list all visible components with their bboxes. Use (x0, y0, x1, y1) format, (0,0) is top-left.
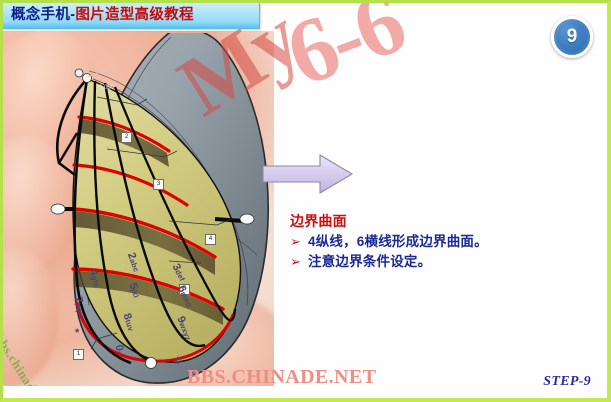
curve-tag-5[interactable]: 5 (179, 284, 190, 295)
callout-bullet-list: ➢ 4纵线，6横线形成边界曲面。 ➢ 注意边界条件设定。 (290, 234, 590, 271)
edge-curve-left-join (59, 133, 77, 163)
curve-tag-3[interactable]: 3 (153, 179, 164, 190)
control-point-handle[interactable] (146, 358, 157, 369)
watermark-66-text: 6-6 (275, 3, 414, 101)
step-label: STEP-9 (543, 374, 591, 390)
arrow-bullet-icon: ➢ (290, 234, 308, 250)
slide-title-bar: 概念手机- 图片造型高级教程 (3, 3, 260, 29)
right-arrow-icon (262, 153, 354, 195)
callout-bullet-text: 注意边界条件设定。 (308, 254, 431, 271)
cad-model-svg (19, 33, 274, 385)
slide-title-prefix: 概念手机- (11, 8, 75, 23)
control-point-handle[interactable] (51, 204, 65, 214)
arrow-bullet-icon: ➢ (290, 254, 308, 270)
control-point-handle[interactable] (240, 214, 254, 224)
callout-text-block: 边界曲面 ➢ 4纵线，6横线形成边界曲面。 ➢ 注意边界条件设定。 (290, 211, 590, 271)
slide-frame: 0.000 2 3 4 5 1 2abc 3def 4ghi 5jkl 6mno (0, 0, 611, 402)
cad-dimension-label: 0.000 (99, 85, 114, 91)
slide-title-main: 图片造型高级教程 (75, 8, 193, 23)
cad-screenshot-image: 0.000 2 3 4 5 1 2abc 3def 4ghi 5jkl 6mno (3, 31, 274, 386)
footer-site-url: BBS.CHINADE.NET (187, 366, 376, 389)
control-point-handle[interactable] (75, 69, 83, 77)
curve-tag-2[interactable]: 2 (121, 132, 132, 143)
callout-bullet-text: 4纵线，6横线形成边界曲面。 (308, 234, 488, 251)
arrow-shape (263, 155, 352, 193)
callout-bullet-item: ➢ 注意边界条件设定。 (290, 254, 590, 271)
curve-tag-1[interactable]: 1 (73, 349, 84, 360)
callout-heading: 边界曲面 (290, 211, 590, 231)
callout-bullet-item: ➢ 4纵线，6横线形成边界曲面。 (290, 234, 590, 251)
slide-canvas: 0.000 2 3 4 5 1 2abc 3def 4ghi 5jkl 6mno (3, 3, 607, 398)
page-number-badge: 9 (551, 16, 593, 58)
curve-tag-4[interactable]: 4 (205, 234, 216, 245)
control-point-handle[interactable] (83, 74, 92, 83)
leader-line-dim (87, 67, 115, 77)
